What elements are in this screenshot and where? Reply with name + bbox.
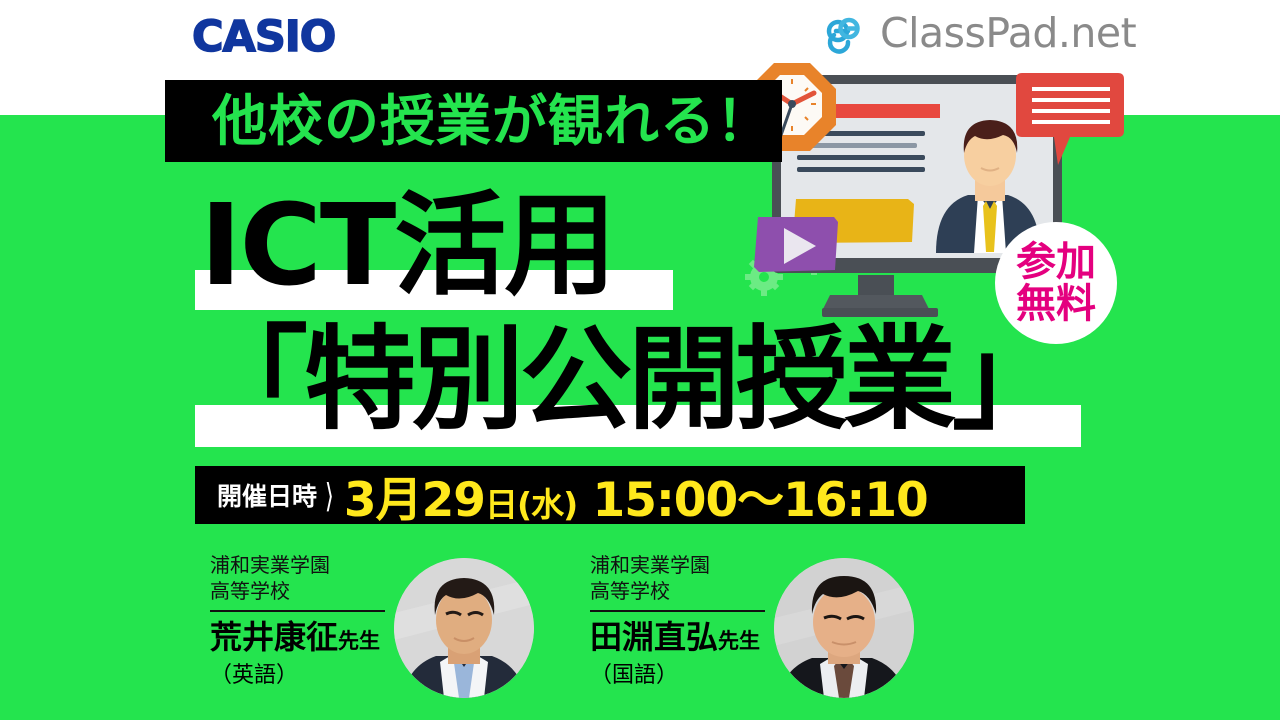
- tagline-text: 他校の授業が観れる！: [212, 90, 772, 152]
- classpad-logo[interactable]: ClassPad.net: [818, 8, 1136, 58]
- schedule-date: 3月29: [344, 473, 485, 528]
- schedule-value: 3月29日(水) 15:00〜16:10: [344, 461, 928, 530]
- badge-line-1: 参加: [1016, 241, 1096, 283]
- presenter-1-name-suffix: 先生: [338, 629, 380, 653]
- presenter-2-school: 浦和実業学園 高等学校: [590, 552, 780, 604]
- page-title-line-1: ICT活用: [200, 186, 614, 306]
- free-participation-badge: 参加 無料: [995, 222, 1117, 344]
- presenter-1-avatar: [394, 558, 534, 698]
- presenter-2-subject: （国語）: [590, 662, 780, 690]
- chain-link-icon: [818, 8, 868, 58]
- presenter-1-subject: （英語）: [210, 662, 400, 690]
- presenter-1-info: 浦和実業学園 高等学校 荒井康征先生 （英語）: [210, 552, 400, 690]
- presenter-2-divider: [590, 610, 765, 612]
- presenter-1-school: 浦和実業学園 高等学校: [210, 552, 400, 604]
- classpad-logo-text: ClassPad.net: [880, 9, 1136, 57]
- presenter-2-name-suffix: 先生: [718, 629, 760, 653]
- presenter-card-2: 浦和実業学園 高等学校 田淵直弘先生 （国語）: [590, 552, 914, 698]
- badge-line-2: 無料: [1016, 283, 1096, 325]
- presenter-card-1: 浦和実業学園 高等学校 荒井康征先生 （英語）: [210, 552, 534, 698]
- schedule-label: 開催日時: [217, 477, 317, 513]
- chevron-right-icon: ⟩: [325, 476, 334, 515]
- presenter-2-name: 田淵直弘先生: [590, 618, 780, 660]
- presenter-2-info: 浦和実業学園 高等学校 田淵直弘先生 （国語）: [590, 552, 780, 690]
- schedule-day-unit: 日(水): [485, 485, 577, 524]
- poster-canvas: CASIO ClassPad.net: [0, 0, 1280, 720]
- schedule-bar: 開催日時 ⟩ 3月29日(水) 15:00〜16:10: [195, 466, 1025, 524]
- presenter-1-divider: [210, 610, 385, 612]
- casio-logo[interactable]: CASIO: [192, 12, 335, 62]
- presenter-2-avatar: [774, 558, 914, 698]
- presenter-1-name: 荒井康征先生: [210, 618, 400, 660]
- play-button-icon: [754, 217, 838, 272]
- page-title-line-2: 「特別公開授業」: [196, 320, 1060, 440]
- schedule-time: 15:00〜16:10: [593, 473, 928, 528]
